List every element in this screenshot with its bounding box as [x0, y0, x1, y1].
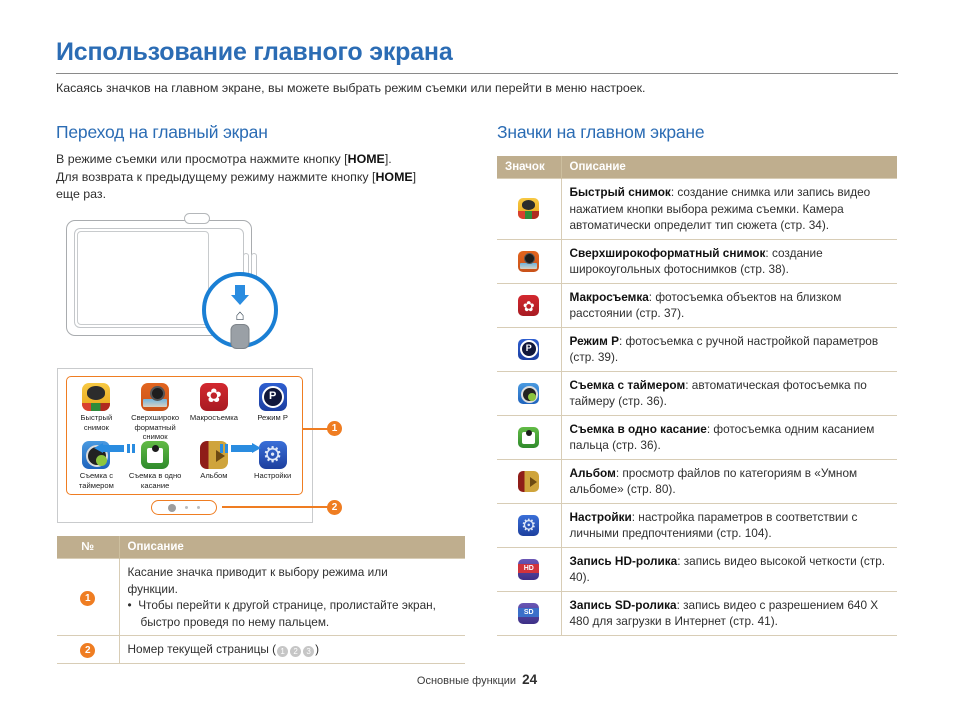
desc-bullet: • Чтобы перейти к другой странице, проли…: [128, 597, 458, 630]
numbered-description-table: № Описание 1 Касание значка приводит к в…: [57, 536, 465, 664]
table-row: Макросъемка: фотосъемка объектов на близ…: [497, 283, 897, 327]
home-key-1: HOME: [348, 152, 385, 166]
icon-cell: [497, 503, 561, 547]
callout-badge-2: 2: [327, 500, 342, 515]
quick-shot-icon: [518, 198, 539, 219]
description-cell: Съемка в одно касание: фотосъемка одним …: [561, 415, 897, 459]
description-cell: Альбом: просмотр файлов по категориям в …: [561, 459, 897, 503]
table-row: Запись SD-ролика: запись видео с разреше…: [497, 591, 897, 635]
table-row: Быстрый снимок: создание снимка или запи…: [497, 179, 897, 240]
one-touch-icon: [518, 427, 539, 448]
page-dot-2: [185, 506, 188, 509]
homescreen-label: Съемка в одно касание: [126, 471, 185, 490]
table-header-row: Значок Описание: [497, 156, 897, 179]
page-dot-active: [168, 504, 176, 512]
one-touch-icon: [141, 441, 169, 469]
homescreen-label: Режим P: [243, 413, 302, 423]
table-header-row: № Описание: [57, 536, 465, 559]
page-dot-3: [197, 506, 200, 509]
homescreen-illustration: Быстрый снимок Сверхшироко форматный сни…: [57, 368, 313, 523]
icon-cell: [497, 591, 561, 635]
homescreen-label: Быстрый снимок: [67, 413, 126, 432]
left-section-paragraph: В режиме съемки или просмотра нажмите кн…: [56, 151, 466, 204]
mode-p-icon: [518, 339, 539, 360]
paragraph-line-2c: ]: [413, 170, 416, 184]
table-row: Альбом: просмотр файлов по категориям в …: [497, 459, 897, 503]
page-footer: Основные функции24: [0, 672, 954, 687]
quick-shot-icon: [82, 383, 110, 411]
description-cell: Съемка с таймером: автоматическая фотосъ…: [561, 371, 897, 415]
homescreen-label: Макросъемка: [185, 413, 244, 423]
home-icon: ⌂: [235, 308, 244, 323]
icon-cell: [497, 415, 561, 459]
table-row: 1 Касание значка приводит к выбору режим…: [57, 559, 465, 636]
description-cell: Макросъемка: фотосъемка объектов на близ…: [561, 283, 897, 327]
settings-icon: [518, 515, 539, 536]
homescreen-icons-table: Значок Описание Быстрый снимок: создание…: [497, 156, 897, 636]
homescreen-row-1: Быстрый снимок Сверхшироко форматный сни…: [67, 383, 302, 442]
homescreen-page-indicator[interactable]: [151, 500, 217, 515]
homescreen-item-quick-shot[interactable]: Быстрый снимок: [67, 383, 126, 442]
desc-bullet-text: Чтобы перейти к другой странице, пролист…: [138, 598, 436, 629]
inline-page-dot-2: 2: [290, 646, 301, 657]
icon-cell: [497, 239, 561, 283]
homescreen-label: Сверхшироко форматный снимок: [126, 413, 185, 442]
wide-shot-icon: [518, 251, 539, 272]
description-cell: Настройки: настройка параметров в соотве…: [561, 503, 897, 547]
description-term: Сверхширокоформатный снимок: [570, 246, 766, 260]
paragraph-line-1a: В режиме съемки или просмотра нажмите кн…: [56, 152, 348, 166]
homescreen-item-mode-p[interactable]: Режим P: [243, 383, 302, 442]
description-term: Запись HD-ролика: [570, 554, 678, 568]
callout-badge-1: 1: [327, 421, 342, 436]
paragraph-line-2a: Для возврата к предыдущему режиму нажмит…: [56, 170, 375, 184]
homescreen-label: Настройки: [243, 471, 302, 481]
left-section-heading: Переход на главный экран: [56, 122, 466, 143]
row-number-cell: 2: [57, 636, 119, 664]
table-row: Съемка в одно касание: фотосъемка одним …: [497, 415, 897, 459]
description-term: Съемка с таймером: [570, 378, 686, 392]
album-icon: [518, 471, 539, 492]
column-header-icon: Значок: [497, 156, 561, 179]
left-column: Переход на главный экран В режиме съемки…: [56, 122, 466, 204]
table-row: Съемка с таймером: автоматическая фотосъ…: [497, 371, 897, 415]
current-page-suffix: ): [315, 642, 319, 656]
self-timer-icon: [518, 383, 539, 404]
column-header-description: Описание: [119, 536, 465, 559]
callout-leader-2: [222, 506, 328, 508]
title-divider: [56, 73, 898, 74]
description-term: Настройки: [570, 510, 632, 524]
description-cell: Режим P: фотосъемка с ручной настройкой …: [561, 327, 897, 371]
table-row: Запись HD-ролика: запись видео высокой ч…: [497, 547, 897, 591]
homescreen-label: Альбом: [185, 471, 244, 481]
mode-p-icon: [259, 383, 287, 411]
page-title: Использование главного экрана: [56, 38, 453, 67]
sd-record-icon: [518, 603, 539, 624]
description-term: Альбом: [570, 466, 616, 480]
row-number-cell: 1: [57, 559, 119, 636]
icon-cell: [497, 459, 561, 503]
swipe-left-arrow-icon: [94, 443, 136, 454]
icon-cell: [497, 547, 561, 591]
table-row: 2 Номер текущей страницы (123): [57, 636, 465, 664]
camera-illustration: ⌂: [56, 208, 356, 358]
paragraph-line-3: еще раз.: [56, 187, 106, 201]
icon-cell: [497, 283, 561, 327]
home-hardware-button: [231, 324, 250, 349]
inline-page-dot-3: 3: [303, 646, 314, 657]
homescreen-label: Съемка с таймером: [67, 471, 126, 490]
macro-icon: [200, 383, 228, 411]
homescreen-item-macro[interactable]: Макросъемка: [185, 383, 244, 442]
home-button-callout-circle: ⌂: [202, 272, 278, 348]
hd-record-icon: [518, 559, 539, 580]
camera-shutter-button: [184, 213, 210, 224]
swipe-right-arrow-icon: [219, 443, 261, 454]
camera-lcd-screen: [77, 231, 209, 325]
footer-page-number: 24: [522, 672, 537, 687]
home-key-2: HOME: [375, 170, 412, 184]
manual-page: Использование главного экрана Касаясь зн…: [0, 0, 954, 720]
inline-page-dot-1: 1: [277, 646, 288, 657]
row-badge-1: 1: [80, 591, 95, 606]
right-section-heading: Значки на главном экране: [497, 122, 897, 143]
settings-icon: [259, 441, 287, 469]
description-cell: Сверхширокоформатный снимок: создание ши…: [561, 239, 897, 283]
right-column: Значки на главном экране: [497, 122, 897, 151]
row-description-cell: Номер текущей страницы (123): [119, 636, 465, 664]
page-intro-text: Касаясь значков на главном экране, вы мо…: [56, 80, 906, 97]
icon-cell: [497, 371, 561, 415]
footer-section-name: Основные функции: [417, 675, 516, 687]
homescreen-icon-grid: Быстрый снимок Сверхшироко форматный сни…: [66, 376, 303, 495]
description-term: Запись SD-ролика: [570, 598, 677, 612]
description-term: Быстрый снимок: [570, 185, 671, 199]
description-cell: Быстрый снимок: создание снимка или запи…: [561, 179, 897, 240]
row-description-cell: Касание значка приводит к выбору режима …: [119, 559, 465, 636]
column-header-description: Описание: [561, 156, 897, 179]
current-page-label: Номер текущей страницы (: [128, 642, 277, 656]
desc-line-1: Касание значка приводит к выбору режима …: [128, 565, 388, 579]
description-term: Макросъемка: [570, 290, 649, 304]
table-row: Настройки: настройка параметров в соотве…: [497, 503, 897, 547]
icon-cell: [497, 179, 561, 240]
icon-cell: [497, 327, 561, 371]
table-row: Сверхширокоформатный снимок: создание ши…: [497, 239, 897, 283]
table-row: Режим P: фотосъемка с ручной настройкой …: [497, 327, 897, 371]
callout-leader-1: [302, 428, 328, 430]
desc-line-2: функции.: [128, 582, 178, 596]
description-cell: Запись HD-ролика: запись видео высокой ч…: [561, 547, 897, 591]
description-term: Съемка в одно касание: [570, 422, 707, 436]
column-header-number: №: [57, 536, 119, 559]
wide-shot-icon: [141, 383, 169, 411]
macro-icon: [518, 295, 539, 316]
row-badge-2: 2: [80, 643, 95, 658]
description-cell: Запись SD-ролика: запись видео с разреше…: [561, 591, 897, 635]
homescreen-item-wide-shot[interactable]: Сверхшироко форматный снимок: [126, 383, 185, 442]
description-term: Режим P: [570, 334, 619, 348]
paragraph-line-1c: ].: [385, 152, 392, 166]
